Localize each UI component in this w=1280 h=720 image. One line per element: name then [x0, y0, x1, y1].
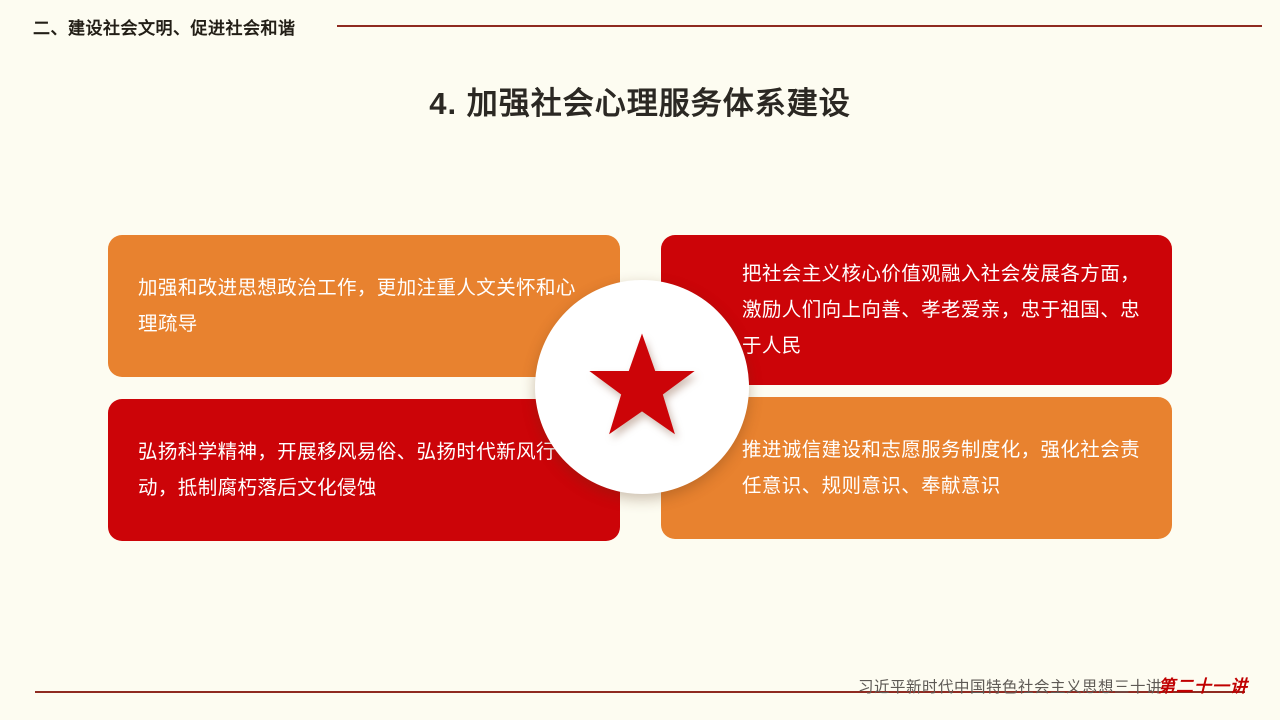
center-emblem: [535, 280, 749, 494]
content-card-text: 把社会主义核心价值观融入社会发展各方面，激励人们向上向善、孝老爱亲，忠于祖国、忠…: [742, 256, 1152, 364]
content-card-text: 加强和改进思想政治工作，更加注重人文关怀和心理疏导: [138, 270, 594, 342]
content-grid: 加强和改进思想政治工作，更加注重人文关怀和心理疏导 把社会主义核心价值观融入社会…: [0, 0, 1280, 720]
content-card-text: 推进诚信建设和志愿服务制度化，强化社会责任意识、规则意识、奉献意识: [742, 432, 1152, 504]
five-pointed-star-icon: [586, 335, 698, 439]
footer-series-title: 习近平新时代中国特色社会主义思想三十讲: [858, 675, 1162, 697]
footer-lecture-number: 第二十一讲: [1158, 672, 1248, 697]
content-card-text: 弘扬科学精神，开展移风易俗、弘扬时代新风行动，抵制腐朽落后文化侵蚀: [138, 434, 594, 506]
